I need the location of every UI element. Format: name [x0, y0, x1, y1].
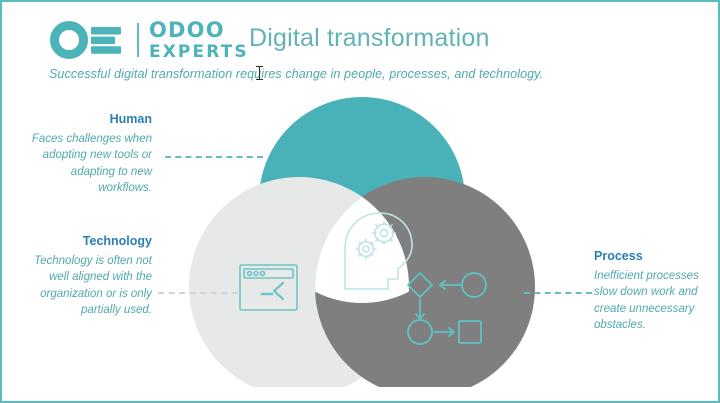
logo-word-odoo: ODOO — [149, 20, 249, 41]
callout-human-text: Faces challenges when adopting new tools… — [24, 131, 152, 196]
odoo-experts-logo-mark-icon — [50, 20, 128, 60]
connector-line-technology — [158, 292, 238, 294]
callout-technology-text: Technology is often not well aligned wit… — [24, 253, 152, 318]
callout-technology-heading: Technology — [24, 234, 152, 249]
brand-logo: ODOO EXPERTS — [50, 18, 249, 62]
callout-process-heading: Process — [594, 249, 714, 264]
slide-canvas: ODOO EXPERTS Digital transformation Succ… — [0, 0, 720, 403]
logo-wordmark: ODOO EXPERTS — [149, 20, 249, 61]
connector-line-human — [165, 156, 263, 158]
callout-human-heading: Human — [24, 112, 152, 127]
page-title: Digital transformation — [249, 24, 490, 53]
logo-divider — [137, 23, 139, 57]
page-subtitle: Successful digital transformation requir… — [49, 67, 543, 81]
callout-process-text: Inefficient processes slow down work and… — [594, 268, 714, 333]
callout-human: Human Faces challenges when adopting new… — [24, 112, 152, 196]
connector-line-process — [524, 292, 592, 294]
callout-process: Process Inefficient processes slow down … — [594, 249, 714, 333]
callout-technology: Technology Technology is often not well … — [24, 234, 152, 318]
logo-word-experts: EXPERTS — [149, 44, 249, 61]
venn-diagram — [182, 97, 542, 387]
